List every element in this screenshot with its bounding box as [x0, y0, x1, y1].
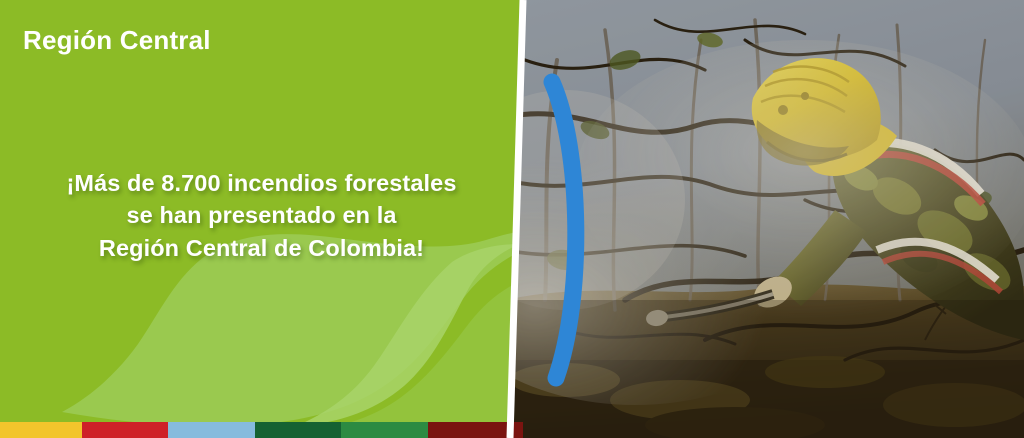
wildfire-awareness-banner: Región Central ¡Más de 8.700 incendios f…	[0, 0, 1024, 438]
bar-segment-yellow	[0, 422, 82, 438]
headline-line-2: se han presentado en la	[0, 199, 523, 231]
headline-line-3: Región Central de Colombia!	[0, 232, 523, 264]
bar-segment-red	[82, 422, 168, 438]
headline-line-1: ¡Más de 8.700 incendios forestales	[0, 167, 523, 199]
bar-segment-light-blue	[168, 422, 255, 438]
bar-segment-dark-green	[255, 422, 341, 438]
color-accent-bar	[0, 422, 523, 438]
firefighter-photo	[505, 0, 1024, 438]
photo-artwork	[505, 0, 1024, 438]
headline-message: ¡Más de 8.700 incendios forestales se ha…	[0, 167, 523, 264]
brand-title: Región Central	[23, 26, 211, 55]
bar-segment-medium-green	[341, 422, 428, 438]
bar-segment-maroon	[428, 422, 523, 438]
